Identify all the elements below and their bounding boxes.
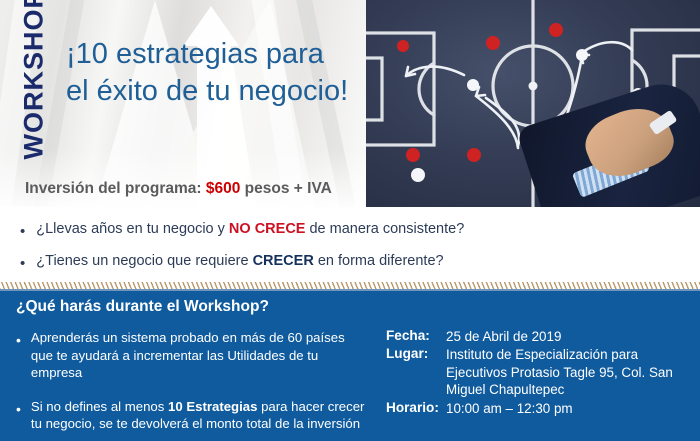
event-time-label: Horario: [386,400,446,415]
banner: WORKSHOP ¡10 estrategias para el éxito d… [0,0,700,207]
question-text-before: ¿Tienes un negocio que requiere [36,253,252,269]
event-date-value: 25 de Abril de 2019 [446,328,561,345]
event-time-row: Horario: 10:00 am – 12:30 pm [386,400,696,417]
section-title: ¿Qué harás durante el Workshop? [16,298,269,316]
price-suffix: pesos + IVA [240,180,331,197]
workshop-vertical-label: WORKSHOP [19,0,50,160]
workshop-benefits-list: • Aprenderás un sistema probado en más d… [16,329,366,441]
question-emphasis: CRECER [253,253,314,269]
questions-section: • ¿Llevas años en tu negocio y NO CRECE … [0,207,700,285]
event-venue-value: Instituto de Especialización para Ejecut… [446,346,696,398]
event-date-row: Fecha: 25 de Abril de 2019 [386,328,696,345]
price-prefix: Inversión del programa: [25,180,206,197]
event-venue-row: Lugar: Instituto de Especialización para… [386,346,696,398]
question-text-after: de manera consistente? [305,221,464,237]
event-venue-label: Lugar: [386,346,446,361]
question-text-before: ¿Llevas años en tu negocio y [36,221,229,237]
headline-line-1: ¡10 estrategias para [66,38,324,70]
background-fade [0,149,366,207]
bullet-icon: • [20,220,25,239]
benefit-text: Aprenderás un sistema probado en más de … [31,329,366,382]
event-time-value: 10:00 am – 12:30 pm [446,400,573,417]
bullet-icon: • [16,398,21,416]
price-amount: $600 [206,180,240,197]
question-emphasis: NO CRECE [229,221,306,237]
event-date-label: Fecha: [386,328,446,343]
benefit-text-before: Aprenderás un sistema probado en más de … [31,330,345,380]
benefit-text-before: Si no defines al menos [31,399,168,414]
workshop-details-section: ¿Qué harás durante el Workshop? • Aprend… [0,291,700,441]
page-title: ¡10 estrategias para el éxito de tu nego… [66,36,358,109]
soccer-tactics-chalkboard-image [366,0,700,207]
price-line: Inversión del programa: $600 pesos + IVA [25,180,332,198]
event-info-panel: Fecha: 25 de Abril de 2019 Lugar: Instit… [386,328,696,418]
list-item: • Aprenderás un sistema probado en más d… [16,329,366,382]
headline-line-2: el éxito de tu negocio! [66,73,358,110]
benefit-text: Si no defines al menos 10 Estrategias pa… [31,398,366,433]
question-text: ¿Tienes un negocio que requiere CRECER e… [36,252,443,270]
workshop-flyer: WORKSHOP ¡10 estrategias para el éxito d… [0,0,700,441]
question-item: • ¿Llevas años en tu negocio y NO CRECE … [20,220,464,239]
question-text: ¿Llevas años en tu negocio y NO CRECE de… [36,220,464,238]
list-item: • Si no defines al menos 10 Estrategias … [16,398,366,433]
question-text-after: en forma diferente? [314,253,444,269]
bullet-icon: • [16,329,21,347]
question-item: • ¿Tienes un negocio que requiere CRECER… [20,252,444,271]
benefit-emphasis: 10 Estrategias [168,399,257,414]
bullet-icon: • [20,252,25,271]
